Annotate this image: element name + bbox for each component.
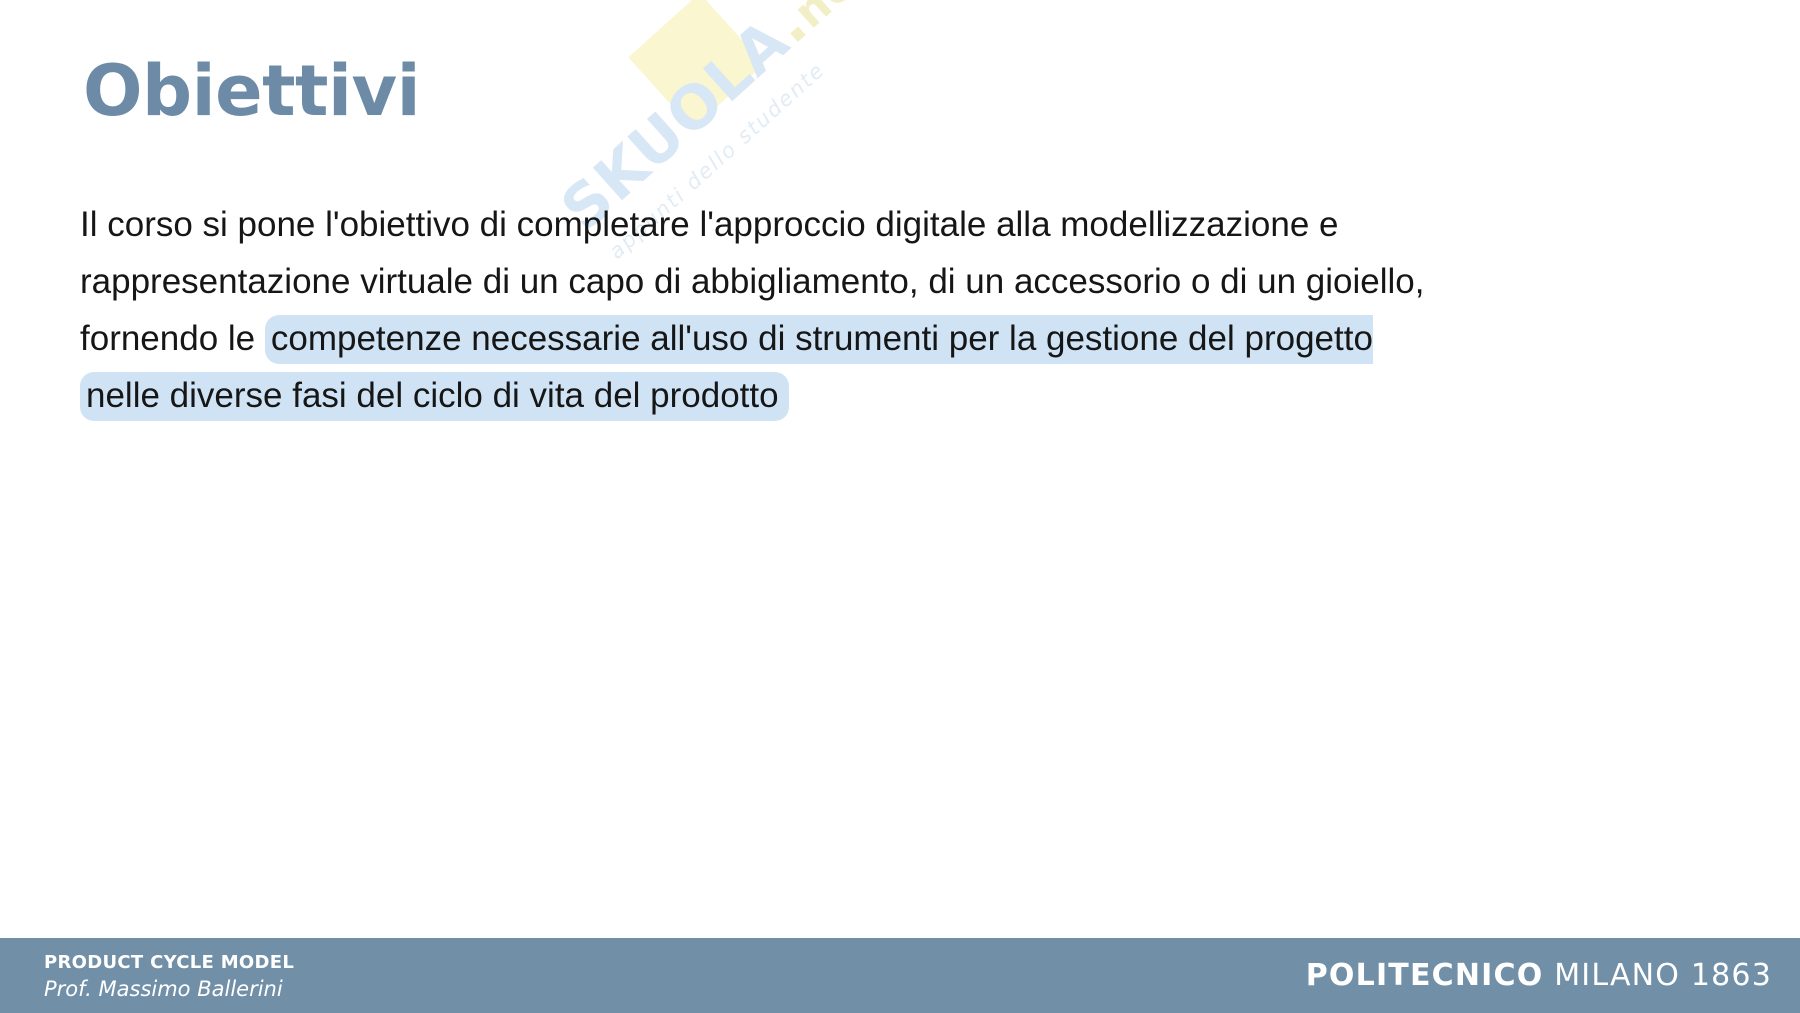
body-paragraph: Il corso si pone l'obiettivo di completa… <box>80 196 1530 424</box>
watermark-brand-net: net <box>784 0 881 38</box>
politecnico-logo: POLITECNICO MILANO 1863 <box>1306 958 1772 993</box>
body-line-1: Il corso si pone l'obiettivo di completa… <box>80 196 1530 253</box>
page-title: Obiettivi <box>83 56 420 126</box>
body-line-4-highlight: nelle diverse fasi del ciclo di vita del… <box>80 372 789 421</box>
footer-credits: PRODUCT CYCLE MODEL Prof. Massimo Baller… <box>44 952 294 1002</box>
slide-canvas: SKUOLA.net appunti dello studente Obiett… <box>0 0 1800 1013</box>
footer-course-title: PRODUCT CYCLE MODEL <box>44 952 294 974</box>
body-line-1-text: Il corso si pone l'obiettivo di completa… <box>80 205 1338 244</box>
body-line-3-plain: fornendo le <box>80 319 265 358</box>
body-line-3: fornendo le competenze necessarie all'us… <box>80 310 1530 367</box>
politecnico-logo-light: MILANO 1863 <box>1543 958 1772 993</box>
body-line-4: nelle diverse fasi del ciclo di vita del… <box>80 367 1530 424</box>
watermark-chip <box>628 0 764 129</box>
body-line-2: rappresentazione virtuale di un capo di … <box>80 253 1530 310</box>
body-line-3-highlight: competenze necessarie all'uso di strumen… <box>265 315 1373 364</box>
watermark-brand-dot: . <box>757 0 822 57</box>
body-line-2-text: rappresentazione virtuale di un capo di … <box>80 262 1424 301</box>
politecnico-logo-strong: POLITECNICO <box>1306 958 1544 993</box>
footer-professor-name: Prof. Massimo Ballerini <box>44 976 294 1002</box>
watermark-brand-rest: KUOLA <box>581 5 803 215</box>
slide-footer: PRODUCT CYCLE MODEL Prof. Massimo Baller… <box>0 938 1800 1013</box>
